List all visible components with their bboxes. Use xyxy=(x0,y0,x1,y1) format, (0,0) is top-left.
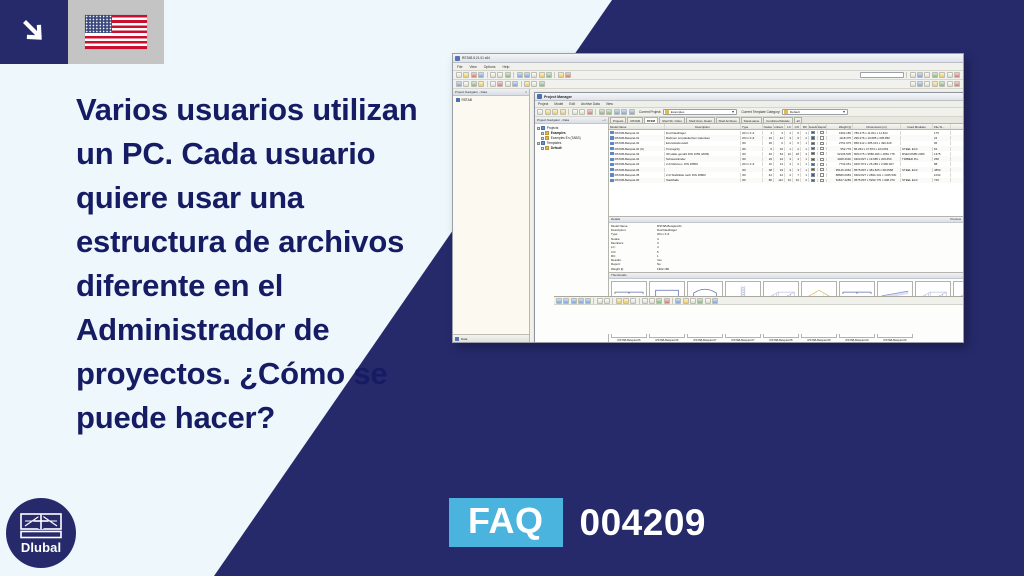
printout-toolbar[interactable] xyxy=(554,297,963,305)
toolbar-hinge-icon[interactable] xyxy=(497,81,503,87)
model-icon xyxy=(610,173,614,176)
results-checkbox[interactable] xyxy=(811,179,814,182)
thumbnail-caption: RSTAB-Beispiel-09 xyxy=(877,339,913,342)
models-tab[interactable]: RSTAB xyxy=(627,117,642,123)
navigator-close-icon[interactable]: × xyxy=(525,90,527,94)
toolbar-undo-icon[interactable] xyxy=(517,72,523,78)
toolbar-measure-icon[interactable] xyxy=(924,81,930,87)
report-checkbox[interactable] xyxy=(820,131,823,134)
toolbar-calc-icon[interactable] xyxy=(546,72,552,78)
col-description: Description xyxy=(665,124,741,129)
pm-paste-icon[interactable] xyxy=(579,109,585,115)
cell-type: 3D xyxy=(741,168,763,172)
project-manager-icon xyxy=(537,94,542,99)
cell-dimensions: 295.276 x 19.685 x 295.850 xyxy=(853,136,901,140)
cell-model-name-text: RSTAB-Beispiel-05 xyxy=(615,168,640,172)
menu-help[interactable]: Help xyxy=(502,65,509,69)
printout-next-icon[interactable] xyxy=(642,298,648,304)
details-pane: Details Preview Model Name:Description:T… xyxy=(609,216,963,272)
current-template-value: Default xyxy=(790,110,800,114)
results-checkbox[interactable] xyxy=(811,158,814,161)
dlubal-logo: Dlubal xyxy=(6,498,76,568)
results-checkbox[interactable] xyxy=(811,131,814,134)
cell-model-name-text: RSTAB-Beispiel-01 xyxy=(615,136,640,140)
models-tab[interactable]: Combined Models xyxy=(763,117,792,123)
report-checkbox[interactable] xyxy=(820,168,823,171)
cell-file-size: 1375 xyxy=(933,152,951,156)
results-checkbox[interactable] xyxy=(811,163,814,166)
toolbar-open-icon[interactable] xyxy=(463,72,469,78)
printout-prev-icon[interactable] xyxy=(604,298,610,304)
cell-results[interactable] xyxy=(809,147,818,150)
table-row[interactable]: RSTAB-Beispiel-033D-Halle gemäß DIN 1055… xyxy=(609,151,963,156)
dlubal-frame-logo xyxy=(20,513,62,539)
cell-lc: 4 xyxy=(785,162,793,166)
cell-members: 3 xyxy=(774,131,785,135)
toolbar-separator xyxy=(487,81,488,87)
current-project-select[interactable]: Examples xyxy=(663,109,737,116)
cell-lc: 4 xyxy=(785,173,793,177)
cell-nodes: 4 xyxy=(763,131,774,135)
toolbar-cut-icon[interactable] xyxy=(490,72,496,78)
detail-value: 1962.180 xyxy=(657,267,961,271)
project-manager-titlebar: Project Manager xyxy=(535,93,963,101)
thumbnails-caption: Thumbnails xyxy=(611,273,627,277)
cell-model-name-text: RSTAB-Beispiel-04 xyxy=(615,157,640,161)
cell-rc: 1 xyxy=(801,157,809,161)
models-tab[interactable]: Shell Sh. Order xyxy=(659,117,685,123)
results-checkbox[interactable] xyxy=(811,147,814,150)
pm-restore-icon[interactable] xyxy=(606,109,612,115)
faq-footer: FAQ 004209 xyxy=(449,498,706,547)
col-results: Results xyxy=(809,124,818,129)
navigator-tree[interactable]: RSTAB xyxy=(453,96,529,334)
cell-results[interactable] xyxy=(809,173,818,176)
cell-model-name: RSTAB-Beispiel-03 xyxy=(609,152,665,156)
folder-icon xyxy=(541,126,545,130)
models-tab[interactable]: Shell Archives xyxy=(716,117,740,123)
cell-co: 9 xyxy=(793,136,801,140)
cell-description: Rahmen mit plastischen Gelenken xyxy=(665,136,741,140)
cell-co: 4 xyxy=(793,157,801,161)
col-type: Type xyxy=(741,124,763,129)
pm-search-icon[interactable] xyxy=(629,109,635,115)
report-checkbox[interactable] xyxy=(820,136,823,139)
pm-delete-icon[interactable] xyxy=(587,109,593,115)
printout-refresh-icon[interactable] xyxy=(656,298,662,304)
results-checkbox[interactable] xyxy=(811,168,814,171)
project-navigator-dock: Project Navigator - Data × RSTAB Data xyxy=(453,89,530,342)
tree-expander-icon[interactable]: - xyxy=(537,142,540,145)
cell-lc: 3 xyxy=(785,157,793,161)
cell-results[interactable] xyxy=(809,142,818,145)
models-tab[interactable]: Projects xyxy=(610,117,626,123)
app-icon xyxy=(455,56,460,61)
toolbar-delete-icon[interactable] xyxy=(565,72,571,78)
models-tabstrip[interactable]: ProjectsRSTABRFEMShell Sh. OrderShell Gr… xyxy=(609,117,963,124)
report-checkbox[interactable] xyxy=(820,142,823,145)
tree-expander-icon[interactable]: - xyxy=(541,147,544,150)
thumbnail-caption: RSTAB-Beispiel-07 xyxy=(725,339,761,342)
cell-report[interactable] xyxy=(818,163,827,166)
models-tab[interactable]: RFEM xyxy=(644,117,658,123)
toolbar-surface-icon[interactable] xyxy=(524,81,530,87)
pm-menu-archive-data[interactable]: Archive Data xyxy=(581,102,600,106)
statusbar-text: Data xyxy=(461,337,467,341)
printout-new-icon[interactable] xyxy=(556,298,562,304)
cell-results[interactable] xyxy=(809,152,818,155)
toolbar-member-icon[interactable] xyxy=(471,81,477,87)
cell-used-modules: STEEL EC3 xyxy=(901,147,933,151)
thumbnail-caption: RSTAB-Beispiel-06 xyxy=(649,339,685,342)
toolbar-paste-icon[interactable] xyxy=(505,72,511,78)
cell-type: 3D xyxy=(741,147,763,151)
models-tab[interactable]: all xyxy=(794,117,803,123)
toolbar-redo-icon[interactable] xyxy=(524,72,530,78)
table-row[interactable]: RSTAB-Beispiel-02 (S)Tonnagcity3D6161215… xyxy=(609,146,963,151)
language-flag-tile xyxy=(68,0,164,64)
cell-nodes: 42 xyxy=(763,173,774,177)
cell-results[interactable] xyxy=(809,179,818,182)
table-row[interactable]: RSTAB-Beispiel-04Schwenkkinder3D26243414… xyxy=(609,156,963,161)
cell-model-name: RSTAB-Beispiel-01 xyxy=(609,131,665,135)
tree-expander-icon[interactable]: - xyxy=(537,127,540,130)
toolbar-layer-icon[interactable] xyxy=(932,81,938,87)
cell-co: 18 xyxy=(793,152,801,156)
toolbar-new-icon[interactable] xyxy=(456,72,462,78)
toolbar-text-icon[interactable] xyxy=(917,81,923,87)
cell-members: 16 xyxy=(774,147,785,151)
toolbar-render-icon[interactable] xyxy=(539,72,545,78)
model-icon xyxy=(610,136,614,139)
navigator-statusbar: Data xyxy=(453,334,529,342)
cell-rc: 1 xyxy=(801,168,809,172)
pm-menu-project[interactable]: Project xyxy=(538,102,548,106)
toolbar-separator xyxy=(595,109,596,115)
cell-results[interactable] xyxy=(809,163,818,166)
cell-description: 2-D Stabilitäts nach DIN 18800 xyxy=(665,173,741,177)
col-used-modules: Used Modules xyxy=(901,124,933,129)
current-project-value: Examples xyxy=(671,110,685,114)
results-checkbox[interactable] xyxy=(811,173,814,176)
cell-rc: 3 xyxy=(801,152,809,156)
cell-type: 2D in X-Z xyxy=(741,162,763,166)
cell-report[interactable] xyxy=(818,142,827,145)
folder-icon xyxy=(545,131,549,135)
cell-lc: 4 xyxy=(785,141,793,145)
toolbar-separator xyxy=(554,72,555,78)
printout-settings-icon[interactable] xyxy=(683,298,689,304)
col-nodes: Nodes xyxy=(763,124,774,129)
cell-dimensions: 86.263 x 47.874 x 224.663 xyxy=(853,147,901,151)
printout-first-icon[interactable] xyxy=(597,298,603,304)
toolbar-separator xyxy=(487,72,488,78)
cell-results[interactable] xyxy=(809,168,818,171)
cell-description: Durchlaufträger xyxy=(665,131,741,135)
cell-lc: 1 xyxy=(785,147,793,151)
printout-zoom-in-icon[interactable] xyxy=(616,298,622,304)
cell-description: Schwenkkinder xyxy=(665,157,741,161)
printout-zoom-out-icon[interactable] xyxy=(623,298,629,304)
project-tree-pin-icon[interactable]: ⌄× xyxy=(602,118,606,122)
toolbar-grid-icon[interactable] xyxy=(939,72,945,78)
cell-nodes: 40 xyxy=(763,152,774,156)
pm-menu-model[interactable]: Model xyxy=(554,102,563,106)
toolbar-node-icon[interactable] xyxy=(456,81,462,87)
results-checkbox[interactable] xyxy=(811,152,814,155)
cell-description: 3D-Halle gemäß DIN 1055 (2005) xyxy=(665,152,741,156)
model-icon xyxy=(610,158,614,161)
models-tab[interactable]: Shell Gran. Detail xyxy=(686,117,715,123)
toolbar-view-icon[interactable] xyxy=(910,72,916,78)
cell-members: 6 xyxy=(774,141,785,145)
menu-view[interactable]: View xyxy=(469,65,476,69)
models-table-body[interactable]: RSTAB-Beispiel-01Durchlaufträger2D in X-… xyxy=(609,130,963,183)
printout-help-icon[interactable] xyxy=(712,298,718,304)
cell-model-name-text: RSTAB-Beispiel-06 xyxy=(615,178,640,182)
toolbar-mesh-icon[interactable] xyxy=(539,81,545,87)
cell-lc: 3 xyxy=(785,136,793,140)
cell-type: 3D xyxy=(741,157,763,161)
project-manager-toolbar[interactable]: Current Project: Examples Current Templa… xyxy=(535,108,963,117)
cell-model-name-text: RSTAB-Beispiel-03 xyxy=(615,152,640,156)
menu-options[interactable]: Options xyxy=(484,65,496,69)
cell-model-name-text: RSTAB-Beispiel-05 xyxy=(615,173,640,177)
preview-caption: Preview xyxy=(950,217,961,221)
cell-report[interactable] xyxy=(818,131,827,134)
printout-delete-icon[interactable] xyxy=(664,298,670,304)
cell-nodes: 6 xyxy=(763,147,774,151)
printout-selection-icon[interactable] xyxy=(705,298,711,304)
cell-nodes: 26 xyxy=(763,157,774,161)
cell-nodes: 10 xyxy=(763,136,774,140)
toolbar-rotate-icon[interactable] xyxy=(924,72,930,78)
table-row[interactable]: RSTAB-Beispiel-06Stadthalle3D80112101626… xyxy=(609,178,963,183)
model-icon xyxy=(610,168,614,171)
cell-co: 6 xyxy=(793,141,801,145)
cell-report[interactable] xyxy=(818,147,827,150)
toolbar-support-icon[interactable] xyxy=(478,81,484,87)
chevron-down-icon xyxy=(843,111,845,113)
cell-report[interactable] xyxy=(818,168,827,171)
rstab-icon xyxy=(456,98,460,102)
model-icon xyxy=(610,142,614,145)
toolbar-fit-icon[interactable] xyxy=(932,72,938,78)
results-checkbox[interactable] xyxy=(811,136,814,139)
brand-name: Dlubal xyxy=(21,541,61,554)
cell-weight: 88680.0983 xyxy=(827,173,853,177)
pm-new-folder-icon[interactable] xyxy=(552,109,558,115)
pm-backup-icon[interactable] xyxy=(599,109,605,115)
toolbar-zoom-icon[interactable] xyxy=(531,72,537,78)
printout-header-icon[interactable] xyxy=(697,298,703,304)
col-file-size: File Si... xyxy=(933,124,951,129)
toolbar-separator xyxy=(568,109,569,115)
cell-rc: 1 xyxy=(801,173,809,177)
application-body: Project Navigator - Data × RSTAB Data Pr… xyxy=(453,89,963,342)
cell-weight: 1118.375 xyxy=(827,136,853,140)
cell-model-name-text: RSTAB-Beispiel-02 xyxy=(615,141,640,145)
cell-model-name: RSTAB-Beispiel-01 xyxy=(609,136,665,140)
report-checkbox[interactable] xyxy=(820,179,823,182)
report-checkbox[interactable] xyxy=(820,158,823,161)
project-manager-title: Project Manager xyxy=(544,95,572,99)
toolbar-select-icon[interactable] xyxy=(947,81,953,87)
cell-type: 2D in X-Z xyxy=(741,136,763,140)
pm-menu-view[interactable]: View xyxy=(606,102,613,106)
cell-report[interactable] xyxy=(818,152,827,155)
printout-save-icon[interactable] xyxy=(571,298,577,304)
toolbar-info-icon[interactable] xyxy=(954,81,960,87)
toolbar-separator xyxy=(513,72,514,78)
col-dimensions: Dimensions [m] xyxy=(853,124,901,129)
cell-weight: 2751.975 xyxy=(827,141,853,145)
menu-file[interactable]: File xyxy=(457,65,462,69)
printout-preview-icon[interactable] xyxy=(585,298,591,304)
toolbar-section-icon[interactable] xyxy=(505,81,511,87)
toolbar-pan-icon[interactable] xyxy=(917,72,923,78)
printout-open-icon[interactable] xyxy=(563,298,569,304)
cell-type: 2D in X-Z xyxy=(741,131,763,135)
report-checkbox[interactable] xyxy=(820,147,823,150)
cell-rc: 1 xyxy=(801,147,809,151)
printout-page-icon[interactable] xyxy=(690,298,696,304)
thumbnail-caption: RSTAB-Beispiel-09 xyxy=(839,339,875,342)
main-toolbar-row-1[interactable] xyxy=(453,71,963,80)
cell-dimensions: 858.312 x 485.013 x 490.429 xyxy=(853,141,901,145)
cell-dimensions: 9303.827 x 2894.101 x 1345.530 xyxy=(853,173,901,177)
cell-report[interactable] xyxy=(818,173,827,176)
toolbar-line-icon[interactable] xyxy=(463,81,469,87)
pm-rename-icon[interactable] xyxy=(560,109,566,115)
cell-report[interactable] xyxy=(818,136,827,139)
cell-description: Stadthalle xyxy=(665,178,741,182)
toolbar-save-icon[interactable] xyxy=(471,72,477,78)
col-weight: Weight [t] xyxy=(827,124,853,129)
thumbnail-caption: RSTAB-Beispiel-07 xyxy=(687,339,723,342)
cell-co: 5 xyxy=(793,131,801,135)
details-values: RSTAB-Beispiel-01Durchlaufträger2D in X-… xyxy=(655,223,963,272)
cell-model-name-text: RSTAB-Beispiel-01 xyxy=(615,131,640,135)
printout-area xyxy=(554,305,963,334)
project-tree-item-label: Default xyxy=(551,146,562,151)
cell-type: 3D xyxy=(741,173,763,177)
cell-file-size: 52 xyxy=(933,147,951,151)
toolbar-material-icon[interactable] xyxy=(512,81,518,87)
cell-results[interactable] xyxy=(809,136,818,139)
folder-icon xyxy=(545,146,549,150)
printout-print-icon[interactable] xyxy=(578,298,584,304)
cell-results[interactable] xyxy=(809,158,818,161)
current-template-select[interactable]: Default xyxy=(782,109,848,116)
thumbnail-caption: RSTAB-Beispiel-08 xyxy=(763,339,799,342)
toolbar-solid-icon[interactable] xyxy=(531,81,537,87)
cell-weight: 62106.505 xyxy=(827,152,853,156)
cell-file-size: 4850 xyxy=(933,168,951,172)
window-titlebar: RSTAB 8.21.01 x64 xyxy=(453,54,963,63)
cell-co: 3 xyxy=(793,168,801,172)
current-template-label: Current Template Category: xyxy=(741,110,780,114)
main-toolbar-row-2[interactable] xyxy=(453,80,963,89)
cell-members: 54 xyxy=(774,152,785,156)
printout-last-icon[interactable] xyxy=(649,298,655,304)
arrow-down-right-icon xyxy=(0,0,68,64)
toolbar-copy-icon[interactable] xyxy=(497,72,503,78)
results-checkbox[interactable] xyxy=(811,142,814,145)
cell-report[interactable] xyxy=(818,179,827,182)
toolbar-filter-icon[interactable] xyxy=(939,81,945,87)
toolbar-snap-icon[interactable] xyxy=(947,72,953,78)
cell-weight: 552.779 xyxy=(827,147,853,151)
cell-model-name: RSTAB-Beispiel-05 xyxy=(609,168,665,172)
cell-used-modules: RSECOMBI 2006 xyxy=(901,152,933,156)
cell-nodes: 10 xyxy=(763,162,774,166)
cell-co: 7 xyxy=(793,173,801,177)
toolbar-separator xyxy=(521,81,522,87)
printout-fit-icon[interactable] xyxy=(630,298,636,304)
toolbar-results-icon[interactable] xyxy=(558,72,564,78)
cell-file-size: 1034 xyxy=(933,173,951,177)
toolbar-print-icon[interactable] xyxy=(478,72,484,78)
report-checkbox[interactable] xyxy=(820,163,823,166)
cell-dimensions: 9397.874 x 25.289 x 2.980.907 xyxy=(853,162,901,166)
cell-dimensions: 9303.827 x 19.685 x 209.650 xyxy=(853,157,901,161)
toolbar-load-icon[interactable] xyxy=(490,81,496,87)
cell-model-name: RSTAB-Beispiel-05 xyxy=(609,173,665,177)
cell-co: 2 xyxy=(793,147,801,151)
table-row[interactable]: RSTAB-Beispiel-053D381933195146.16628575… xyxy=(609,167,963,172)
cell-rc: 2 xyxy=(801,136,809,140)
tree-expander-icon[interactable]: - xyxy=(541,132,544,135)
toolbar-close-icon[interactable] xyxy=(954,72,960,78)
cell-lc: 4 xyxy=(785,131,793,135)
pm-thumbnail-view-icon[interactable] xyxy=(621,109,627,115)
cell-rc: 1 xyxy=(801,131,809,135)
report-checkbox[interactable] xyxy=(820,152,823,155)
toolbar-loadcase-select[interactable] xyxy=(860,72,904,78)
cell-report[interactable] xyxy=(818,158,827,161)
faq-number: 004209 xyxy=(580,502,706,544)
project-tree-item[interactable]: -Default xyxy=(537,146,606,151)
cell-weight: 1962.180 xyxy=(827,131,853,135)
navigator-title: Project Navigator - Data xyxy=(455,90,487,94)
pm-open-icon[interactable] xyxy=(545,109,551,115)
tree-expander-icon[interactable]: - xyxy=(541,137,544,140)
cell-model-name: RSTAB-Beispiel-04 xyxy=(609,157,665,161)
toolbar-dim-icon[interactable] xyxy=(910,81,916,87)
main-menubar[interactable]: File View Options Help xyxy=(453,63,963,71)
cell-results[interactable] xyxy=(809,131,818,134)
thumbnail-caption: RSTAB-Beispiel-06 xyxy=(611,339,647,342)
printout-export-icon[interactable] xyxy=(675,298,681,304)
cell-file-size: 96 xyxy=(933,141,951,145)
model-icon xyxy=(610,147,614,150)
navigator-root-item[interactable]: RSTAB xyxy=(456,98,526,102)
models-table[interactable]: Model Name Description Type Nodes Member… xyxy=(609,124,963,216)
pm-details-view-icon[interactable] xyxy=(614,109,620,115)
thumbnail-caption: RSTAB-Beispiel-08 xyxy=(801,339,837,342)
cell-lc: 10 xyxy=(785,178,793,182)
top-badge-row xyxy=(0,0,164,64)
models-tab[interactable]: Stand-alone xyxy=(741,117,763,123)
project-manager-menubar[interactable]: Project Model Edit Archive Data View xyxy=(535,101,963,108)
report-checkbox[interactable] xyxy=(820,173,823,176)
navigator-titlebar: Project Navigator - Data × xyxy=(453,89,529,96)
cell-dimensions: 789.275 x 11.811 x 11.813 xyxy=(853,131,901,135)
pm-copy-icon[interactable] xyxy=(572,109,578,115)
pm-new-icon[interactable] xyxy=(537,109,543,115)
pm-menu-edit[interactable]: Edit xyxy=(569,102,575,106)
